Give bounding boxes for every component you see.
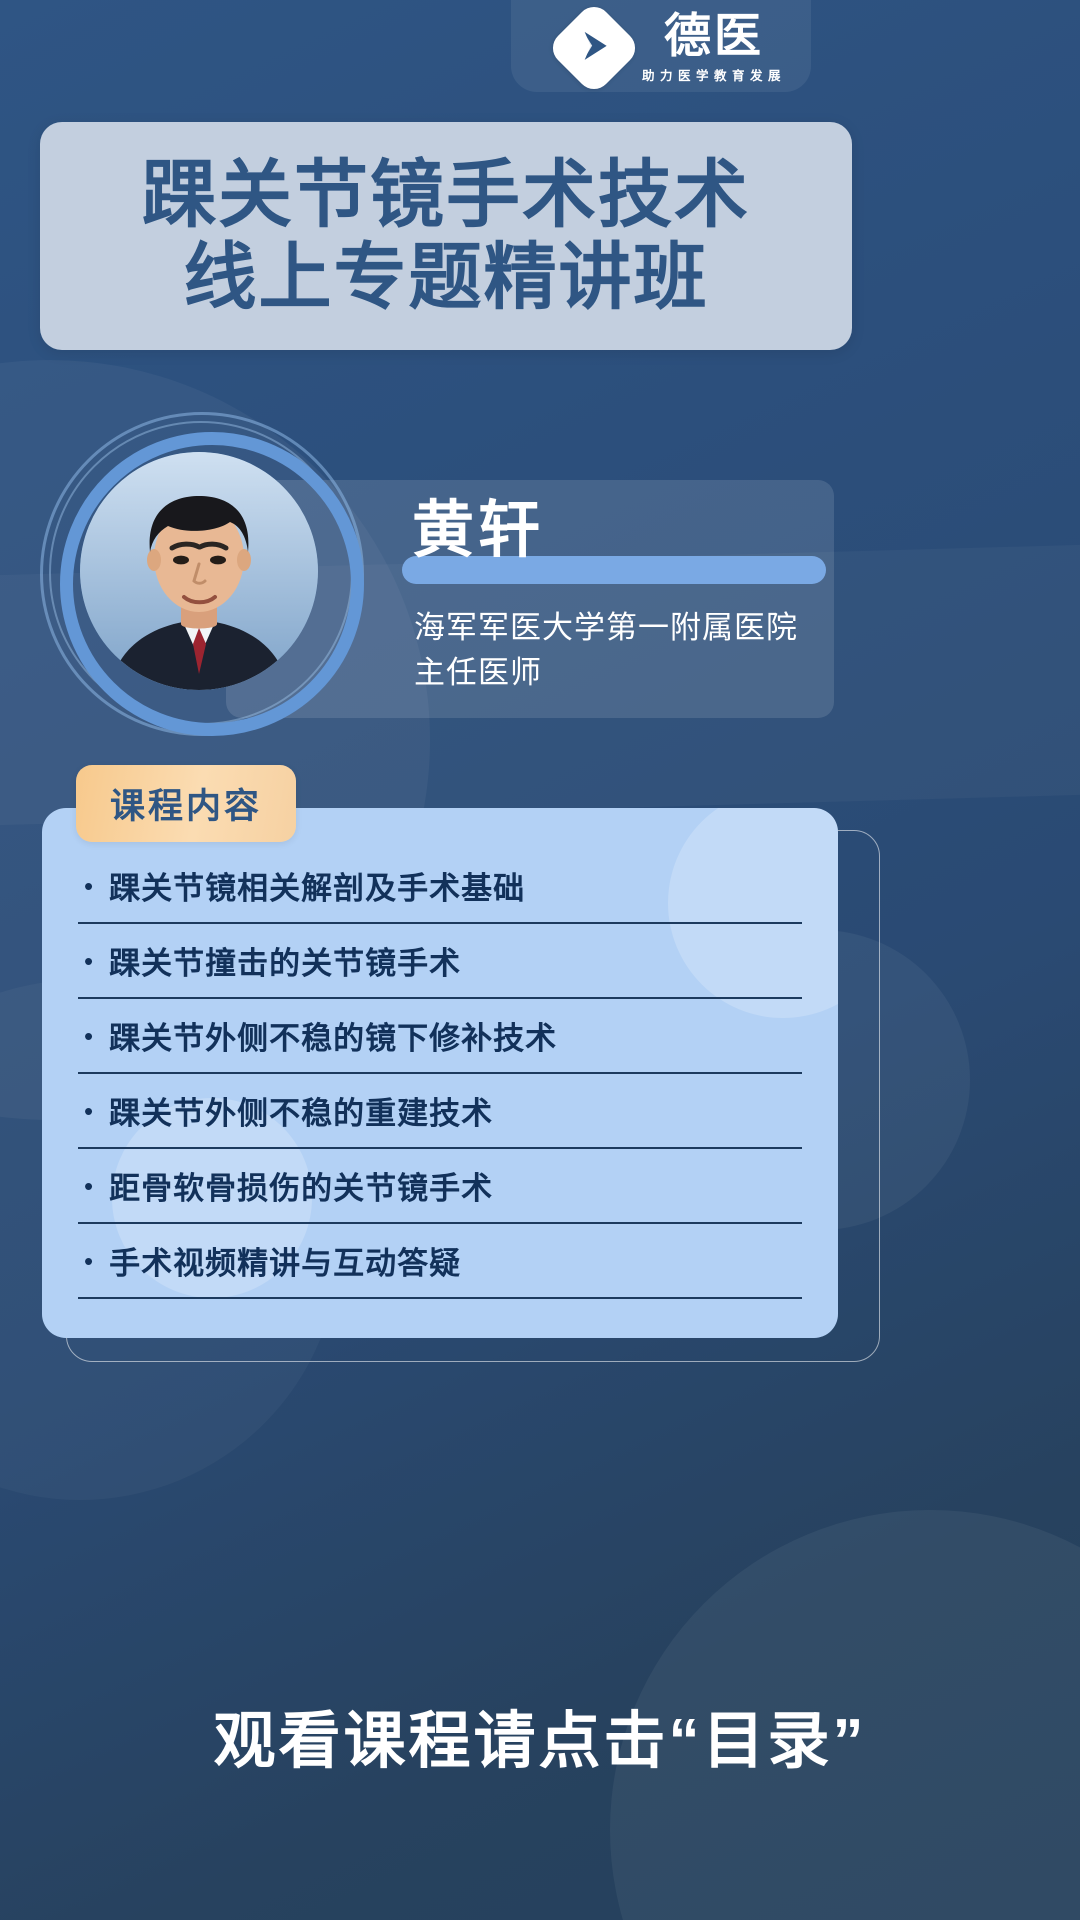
play-diamond-icon [546,0,642,96]
list-item[interactable]: • 距骨软骨损伤的关节镜手术 [78,1163,802,1224]
course-item-label: 踝关节镜相关解剖及手术基础 [109,863,525,908]
page-title: 踝关节镜手术技术 线上专题精讲班 [40,122,852,350]
brand-name: 德医 [664,12,764,60]
title-line-1: 踝关节镜手术技术 [142,157,750,234]
course-item-label: 踝关节撞击的关节镜手术 [109,938,461,983]
course-item-label: 踝关节外侧不稳的镜下修补技术 [109,1013,557,1058]
brand-text: 德医 助力医学教育发展 [642,12,786,84]
brand-logo: 德医 助力医学教育发展 [560,12,786,84]
title-line-2: 线上专题精讲班 [184,240,709,316]
bullet-icon: • [84,873,93,899]
cta-text: 观看课程请点击“目录” [0,1690,1080,1780]
course-list: • 踝关节镜相关解剖及手术基础 • 踝关节撞击的关节镜手术 • 踝关节外侧不稳的… [42,808,838,1299]
speaker-affiliation: 海军军医大学第一附属医院 主任医师 [414,605,798,696]
bullet-icon: • [84,1098,93,1124]
bullet-icon: • [84,948,93,974]
poster-root: 德医 助力医学教育发展 踝关节镜手术技术 线上专题精讲班 [0,0,1080,1920]
list-item[interactable]: • 手术视频精讲与互动答疑 [78,1238,802,1299]
speaker-name: 黄轩 [412,500,544,562]
speaker-position: 主任医师 [414,650,798,695]
course-item-label: 距骨软骨损伤的关节镜手术 [109,1163,493,1208]
list-item[interactable]: • 踝关节撞击的关节镜手术 [78,938,802,999]
bullet-icon: • [84,1248,93,1274]
brand-tagline: 助力医学教育发展 [642,65,786,84]
list-item[interactable]: • 踝关节外侧不稳的重建技术 [78,1088,802,1149]
list-item[interactable]: • 踝关节外侧不稳的镜下修补技术 [78,1013,802,1074]
bullet-icon: • [84,1023,93,1049]
course-content-badge: 课程内容 [76,765,296,842]
list-item[interactable]: • 踝关节镜相关解剖及手术基础 [78,863,802,924]
speaker-hospital: 海军军医大学第一附属医院 [414,605,798,650]
avatar [40,412,358,730]
course-item-label: 踝关节外侧不稳的重建技术 [109,1088,493,1133]
speaker-portrait [80,452,318,690]
course-item-label: 手术视频精讲与互动答疑 [109,1238,461,1283]
bullet-icon: • [84,1173,93,1199]
